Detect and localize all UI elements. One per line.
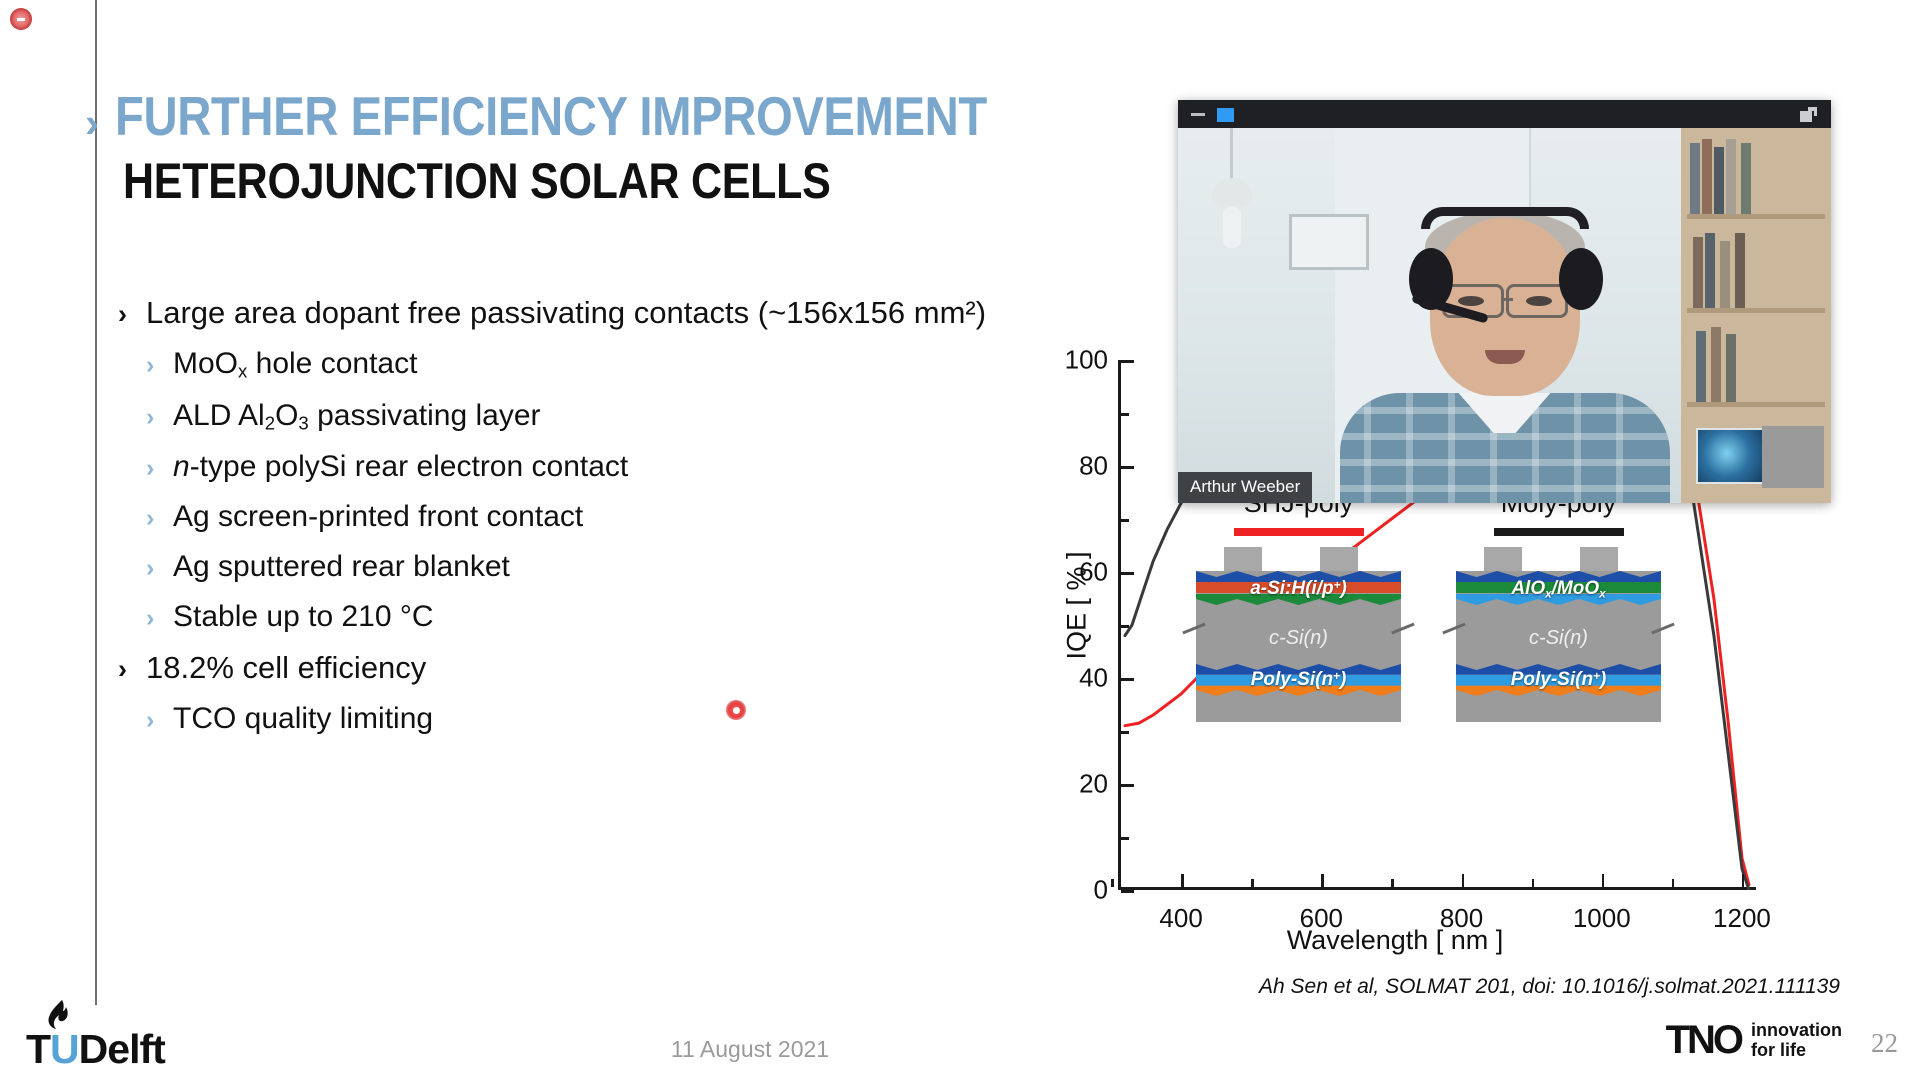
list-item-label: Ag screen-printed front contact bbox=[173, 500, 583, 534]
active-speaker-indicator-icon[interactable] bbox=[1217, 108, 1234, 122]
x-tick bbox=[1181, 874, 1184, 887]
list-item: › Ag screen-printed front contact bbox=[118, 500, 1148, 534]
y-tick-minor bbox=[1121, 837, 1129, 840]
inset-legend-line bbox=[1234, 528, 1364, 536]
list-item-label: Ag sputtered rear blanket bbox=[173, 550, 510, 584]
list-item: › n-type polySi rear electron contact bbox=[118, 450, 1148, 484]
bullet-chevron-icon: › bbox=[118, 299, 146, 330]
x-tick-minor bbox=[1672, 879, 1675, 887]
y-tick-label: 20 bbox=[1038, 769, 1108, 800]
page-subtitle: HETEROJUNCTION SOLAR CELLS bbox=[123, 156, 1165, 207]
video-window-titlebar[interactable] bbox=[1178, 100, 1831, 128]
wall-picture-frame bbox=[1289, 214, 1369, 270]
y-tick-label: 60 bbox=[1038, 557, 1108, 588]
y-tick bbox=[1121, 678, 1134, 681]
video-call-window[interactable]: Arthur Weeber bbox=[1178, 100, 1831, 503]
page-title: FURTHER EFFICIENCY IMPROVEMENT bbox=[115, 88, 987, 144]
y-tick-minor bbox=[1121, 625, 1129, 628]
list-item: › ALD Al2O3 passivating layer bbox=[118, 399, 1148, 435]
x-tick-minor bbox=[1391, 879, 1394, 887]
list-item-label: ALD Al2O3 passivating layer bbox=[173, 399, 541, 435]
list-item-label: MoOx hole contact bbox=[173, 347, 417, 383]
list-item: › Ag sputtered rear blanket bbox=[118, 550, 1148, 584]
front-metal-fingers bbox=[1456, 547, 1661, 571]
participant-name-badge: Arthur Weeber bbox=[1178, 472, 1312, 503]
bullet-chevron-icon: › bbox=[146, 403, 173, 432]
cell-stack-diagram: a-Si:H(i/p+) c-Si(n) Poly-Si(n+) bbox=[1196, 547, 1401, 722]
participant-torso bbox=[1340, 393, 1670, 503]
slide-date: 11 August 2021 bbox=[0, 1036, 1500, 1063]
y-tick-label: 80 bbox=[1038, 451, 1108, 482]
inset-legend-line bbox=[1494, 528, 1624, 536]
headset-band bbox=[1421, 207, 1589, 229]
tno-wordmark: TNO bbox=[1666, 1018, 1741, 1063]
inset-diagram-shj-poly: SHJ-poly a-Si:H(i/p+) c-Si(n) Poly-Si(n+… bbox=[1196, 488, 1401, 722]
page-number: 22 bbox=[1871, 1028, 1898, 1059]
x-tick bbox=[1462, 874, 1465, 887]
layer-label-front: AlOx/MoOx bbox=[1456, 578, 1661, 601]
hanging-lamp bbox=[1204, 128, 1260, 248]
x-tick bbox=[1321, 874, 1324, 887]
tno-logo: TNO innovation for life bbox=[1666, 1018, 1842, 1062]
list-item: › 18.2% cell efficiency bbox=[118, 650, 1148, 686]
x-tick-minor bbox=[1111, 879, 1114, 887]
bullet-chevron-icon: › bbox=[146, 351, 173, 380]
list-item: › Stable up to 210 °C bbox=[118, 600, 1148, 634]
tu-delft-logo: TUDelft bbox=[8, 1000, 208, 1070]
tno-tagline: innovation for life bbox=[1751, 1020, 1842, 1060]
tu-delft-wordmark: TUDelft bbox=[26, 1026, 165, 1073]
list-item: › MoOx hole contact bbox=[118, 347, 1148, 383]
list-item-label: n-type polySi rear electron contact bbox=[173, 450, 628, 484]
bullet-chevron-icon: › bbox=[146, 706, 173, 735]
bullet-chevron-icon: › bbox=[146, 504, 173, 533]
y-tick-label: 40 bbox=[1038, 663, 1108, 694]
list-item-label: TCO quality limiting bbox=[173, 702, 433, 736]
y-tick-minor bbox=[1121, 519, 1129, 522]
list-item-label: Stable up to 210 °C bbox=[173, 600, 434, 634]
minimize-icon[interactable] bbox=[1191, 113, 1205, 116]
x-tick-minor bbox=[1532, 879, 1535, 887]
front-metal-fingers bbox=[1196, 547, 1401, 571]
y-tick-minor bbox=[1121, 731, 1129, 734]
y-tick bbox=[1121, 890, 1134, 893]
y-tick-minor bbox=[1121, 413, 1129, 416]
list-item: › Large area dopant free passivating con… bbox=[118, 295, 1148, 331]
bullet-chevron-icon: › bbox=[146, 604, 173, 633]
layer-label-bulk: c-Si(n) bbox=[1456, 627, 1661, 650]
x-tick bbox=[1602, 874, 1605, 887]
wall-grid-panel bbox=[1762, 426, 1824, 488]
layer-label-rear: Poly-Si(n+) bbox=[1196, 669, 1401, 691]
bullet-chevron-icon: › bbox=[146, 554, 173, 583]
recording-indicator-icon bbox=[10, 8, 32, 30]
cell-stack-diagram: AlOx/MoOx c-Si(n) Poly-Si(n+) bbox=[1456, 547, 1661, 722]
title-chevron-icon: › bbox=[85, 102, 99, 144]
restore-window-icon[interactable] bbox=[1800, 107, 1817, 122]
layer-label-bulk: c-Si(n) bbox=[1196, 627, 1401, 650]
y-tick bbox=[1121, 784, 1134, 787]
headset-earcup-right bbox=[1559, 248, 1603, 310]
list-item-label: Large area dopant free passivating conta… bbox=[146, 295, 986, 331]
bullet-list: › Large area dopant free passivating con… bbox=[118, 295, 1148, 752]
y-tick bbox=[1121, 466, 1134, 469]
video-feed[interactable]: Arthur Weeber bbox=[1178, 128, 1831, 503]
y-tick bbox=[1121, 572, 1134, 575]
layer-label-front: a-Si:H(i/p+) bbox=[1196, 578, 1401, 600]
wall-poster bbox=[1696, 428, 1772, 484]
x-tick-minor bbox=[1251, 879, 1254, 887]
slide-heading: › FURTHER EFFICIENCY IMPROVEMENT HETEROJ… bbox=[85, 88, 1335, 207]
y-tick-label: 100 bbox=[1038, 345, 1108, 376]
x-tick bbox=[1742, 874, 1745, 887]
list-item-label: 18.2% cell efficiency bbox=[146, 650, 426, 686]
chart-x-axis-label: Wavelength [ nm ] bbox=[1035, 925, 1755, 956]
y-tick bbox=[1121, 360, 1134, 363]
chart-citation: Ah Sen et al, SOLMAT 201, doi: 10.1016/j… bbox=[1020, 975, 1840, 999]
inset-diagram-moly-poly: Moly-poly AlOx/MoOx c-Si(n) Poly-Si(n+) bbox=[1456, 488, 1661, 722]
list-item: › TCO quality limiting bbox=[118, 702, 1148, 736]
y-tick-label: 0 bbox=[1038, 875, 1108, 906]
bullet-chevron-icon: › bbox=[146, 454, 173, 483]
bullet-chevron-icon: › bbox=[118, 654, 146, 685]
layer-label-rear: Poly-Si(n+) bbox=[1456, 669, 1661, 691]
